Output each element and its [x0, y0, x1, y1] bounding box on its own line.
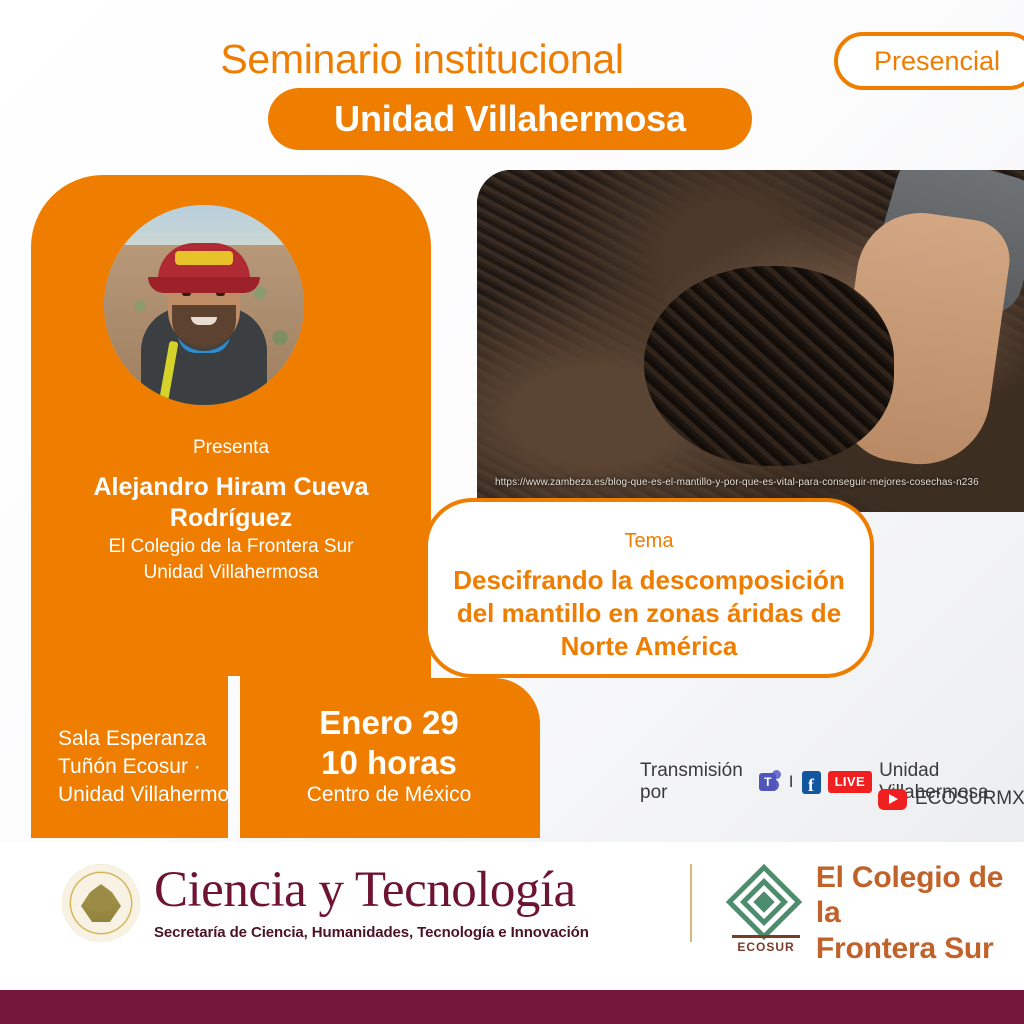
date-timezone: Centro de México: [238, 783, 540, 807]
bottom-bar: [0, 990, 1024, 1024]
broadcast-separator: I: [788, 772, 795, 792]
youtube-channel: ECOSURMX: [915, 788, 1024, 810]
avatar-mouth: [191, 317, 217, 325]
ecosur-logo-text: El Colegio de la Frontera Sur: [816, 860, 1024, 966]
footer: Ciencia y Tecnología Secretaría de Cienc…: [0, 842, 1024, 990]
topic-photo: https://www.zambeza.es/blog-que-es-el-ma…: [477, 170, 1024, 512]
ecosur-mark-word: ECOSUR: [732, 940, 800, 954]
modality-badge-label: Presencial: [874, 46, 1000, 77]
gov-logo-text: Ciencia y Tecnología Secretaría de Cienc…: [154, 865, 589, 941]
ecosur-rule: [732, 935, 800, 938]
speaker-name: Alejandro Hiram Cueva Rodríguez: [45, 472, 417, 533]
ecosur-logo: ECOSUR El Colegio de la Frontera Sur: [728, 860, 1024, 966]
modality-badge: Presencial: [834, 32, 1024, 90]
teams-icon-square: T: [759, 773, 776, 791]
speaker-affiliation: El Colegio de la Frontera Sur Unidad Vil…: [35, 534, 427, 586]
ecosur-mark-icon: ECOSUR: [728, 872, 800, 954]
date-time: 10 horas: [238, 743, 540, 783]
date-main: Enero 29 10 horas: [238, 703, 540, 782]
broadcast-prefix: Transmisión por: [640, 760, 752, 804]
unit-pill-label: Unidad Villahermosa: [334, 98, 686, 140]
avatar: [104, 205, 304, 405]
photo-mulch-clump: [644, 266, 894, 466]
ecosur-line-2: Frontera Sur: [816, 931, 1024, 966]
unit-pill: Unidad Villahermosa: [268, 88, 752, 150]
avatar-cap-logo: [175, 251, 233, 265]
footer-divider: [690, 864, 692, 942]
live-badge: LIVE: [828, 771, 873, 793]
seminar-poster: Seminario institucional Unidad Villaherm…: [0, 0, 1024, 1024]
youtube-icon-play: [889, 794, 898, 804]
presenta-label: Presenta: [31, 437, 431, 459]
mexico-coat-of-arms-icon: [62, 864, 140, 942]
gov-title: Ciencia y Tecnología: [154, 865, 589, 916]
affiliation-line-2: Unidad Villahermosa: [35, 560, 427, 586]
gov-subtitle: Secretaría de Ciencia, Humanidades, Tecn…: [154, 924, 589, 941]
topic-label: Tema: [424, 530, 874, 553]
affiliation-line-1: El Colegio de la Frontera Sur: [35, 534, 427, 560]
topic-title: Descifrando la descomposición del mantil…: [436, 564, 862, 662]
ecosur-line-1: El Colegio de la: [816, 860, 1024, 931]
date-day: Enero 29: [238, 703, 540, 743]
facebook-icon[interactable]: f: [802, 771, 821, 794]
youtube-icon[interactable]: [878, 789, 907, 810]
youtube-row: ECOSURMX: [878, 788, 1024, 810]
photo-credit-url: https://www.zambeza.es/blog-que-es-el-ma…: [495, 477, 979, 488]
microsoft-teams-icon[interactable]: T: [759, 770, 781, 794]
gov-logo: Ciencia y Tecnología Secretaría de Cienc…: [62, 864, 589, 942]
